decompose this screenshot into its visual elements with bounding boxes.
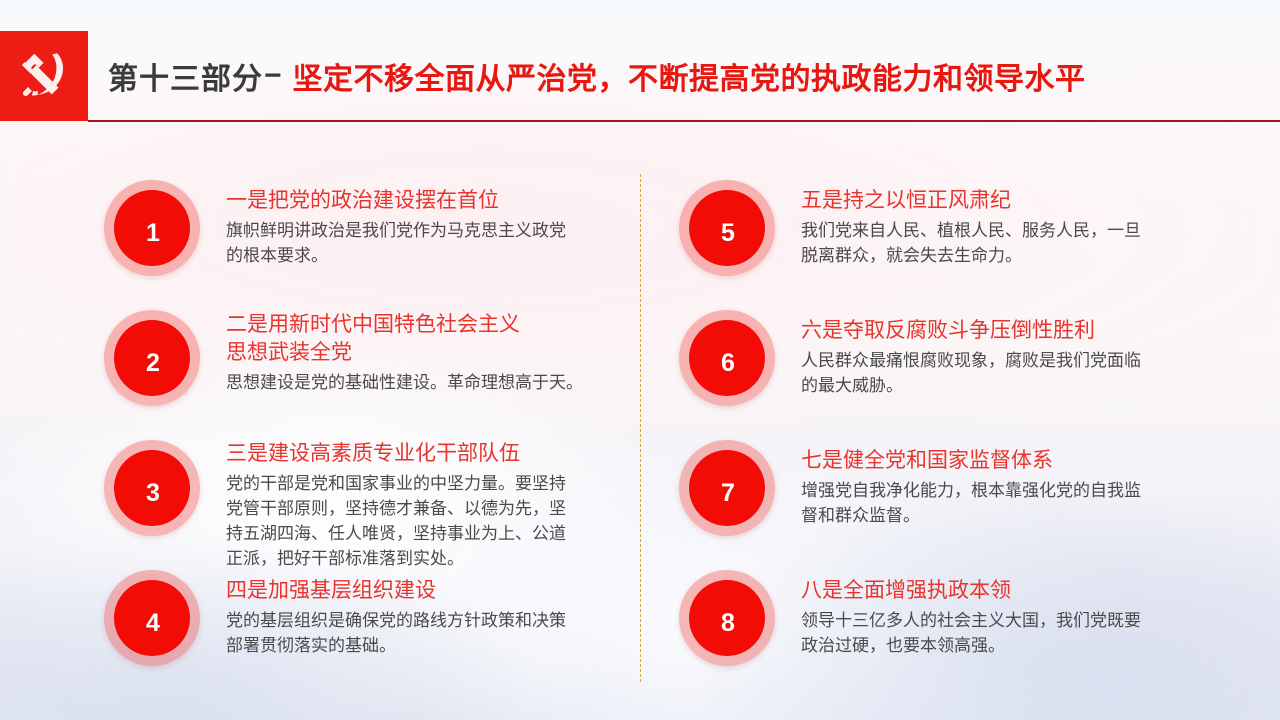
content-area: 1 一是把党的政治建设摆在首位 旗帜鲜明讲政治是我们党作为马克思主义政党 的根本…: [0, 124, 1280, 720]
item-number-badge: 2: [104, 310, 200, 406]
item-text-block: 一是把党的政治建设摆在首位 旗帜鲜明讲政治是我们党作为马克思主义政党 的根本要求…: [226, 186, 636, 268]
left-column: 1 一是把党的政治建设摆在首位 旗帜鲜明讲政治是我们党作为马克思主义政党 的根本…: [104, 124, 634, 720]
item-number-badge: 8: [679, 570, 775, 666]
item-text-block: 四是加强基层组织建设 党的基层组织是确保党的路线方针政策和决策 部署贯彻落实的基…: [226, 576, 636, 658]
item-body: 党的干部是党和国家事业的中坚力量。要坚持 党管干部原则，坚持德才兼备、以德为先，…: [226, 471, 636, 571]
item-text-block: 六是夺取反腐败斗争压倒性胜利 人民群众最痛恨腐败现象，腐败是我们党面临 的最大威…: [801, 316, 1241, 398]
item-title: 七是健全党和国家监督体系: [801, 446, 1241, 474]
item-text-block: 五是持之以恒正风肃纪 我们党来自人民、植根人民、服务人民，一旦 脱离群众，就会失…: [801, 186, 1241, 268]
item-body: 党的基层组织是确保党的路线方针政策和决策 部署贯彻落实的基础。: [226, 608, 636, 658]
item-title: 一是把党的政治建设摆在首位: [226, 186, 636, 214]
item-title: 三是建设高素质专业化干部队伍: [226, 439, 636, 467]
item-number-badge-core: 4: [114, 580, 190, 656]
item-body: 人民群众最痛恨腐败现象，腐败是我们党面临 的最大威胁。: [801, 348, 1241, 398]
item-text-block: 二是用新时代中国特色社会主义 思想武装全党 思想建设是党的基础性建设。革命理想高…: [226, 310, 636, 395]
title-dash: −: [263, 59, 284, 93]
item-number-badge-core: 5: [689, 190, 765, 266]
item-number-badge: 7: [679, 440, 775, 536]
item-title: 六是夺取反腐败斗争压倒性胜利: [801, 316, 1241, 344]
item-number: 7: [721, 481, 735, 506]
item-number-badge-core: 7: [689, 450, 765, 526]
item-number: 6: [721, 351, 735, 376]
item-title: 五是持之以恒正风肃纪: [801, 186, 1241, 214]
item-body: 增强党自我净化能力，根本靠强化党的自我监 督和群众监督。: [801, 478, 1241, 528]
header-divider-line: [88, 120, 1280, 122]
slide-root: 第十三部分 − 坚定不移全面从严治党，不断提高党的执政能力和领导水平 1 一是把…: [0, 0, 1280, 720]
slide-header: 第十三部分 − 坚定不移全面从严治党，不断提高党的执政能力和领导水平: [0, 0, 1280, 124]
item-title: 二是用新时代中国特色社会主义 思想武装全党: [226, 310, 636, 366]
item-body: 思想建设是党的基础性建设。革命理想高于天。: [226, 370, 636, 395]
item-text-block: 七是健全党和国家监督体系 增强党自我净化能力，根本靠强化党的自我监 督和群众监督…: [801, 446, 1241, 528]
item-title: 八是全面增强执政本领: [801, 576, 1241, 604]
item-number-badge: 1: [104, 180, 200, 276]
item-number-badge: 3: [104, 440, 200, 536]
page-title: 第十三部分 − 坚定不移全面从严治党，不断提高党的执政能力和领导水平: [108, 52, 1086, 100]
item-number-badge: 5: [679, 180, 775, 276]
item-number: 8: [721, 611, 735, 636]
right-column: 5 五是持之以恒正风肃纪 我们党来自人民、植根人民、服务人民，一旦 脱离群众，就…: [679, 124, 1239, 720]
item-number-badge: 6: [679, 310, 775, 406]
item-body: 我们党来自人民、植根人民、服务人民，一旦 脱离群众，就会失去生命力。: [801, 218, 1241, 268]
item-text-block: 八是全面增强执政本领 领导十三亿多人的社会主义大国，我们党既要 政治过硬，也要本…: [801, 576, 1241, 658]
item-number: 3: [146, 481, 160, 506]
item-number: 5: [721, 221, 735, 246]
item-number: 1: [146, 221, 160, 246]
title-text: 坚定不移全面从严治党，不断提高党的执政能力和领导水平: [293, 54, 1086, 98]
party-emblem-logo: [0, 31, 88, 121]
item-body: 领导十三亿多人的社会主义大国，我们党既要 政治过硬，也要本领高强。: [801, 608, 1241, 658]
item-number-badge-core: 3: [114, 450, 190, 526]
column-divider: [640, 174, 641, 682]
item-number-badge-core: 8: [689, 580, 765, 656]
item-number: 4: [146, 611, 160, 636]
party-emblem-hammer-sickle-icon: [13, 45, 75, 107]
item-number-badge-core: 1: [114, 190, 190, 266]
item-number: 2: [146, 351, 160, 376]
item-number-badge: 4: [104, 570, 200, 666]
section-label: 第十三部分: [108, 54, 263, 98]
item-number-badge-core: 6: [689, 320, 765, 396]
item-text-block: 三是建设高素质专业化干部队伍 党的干部是党和国家事业的中坚力量。要坚持 党管干部…: [226, 439, 636, 571]
item-title: 四是加强基层组织建设: [226, 576, 636, 604]
item-body: 旗帜鲜明讲政治是我们党作为马克思主义政党 的根本要求。: [226, 218, 636, 268]
item-number-badge-core: 2: [114, 320, 190, 396]
